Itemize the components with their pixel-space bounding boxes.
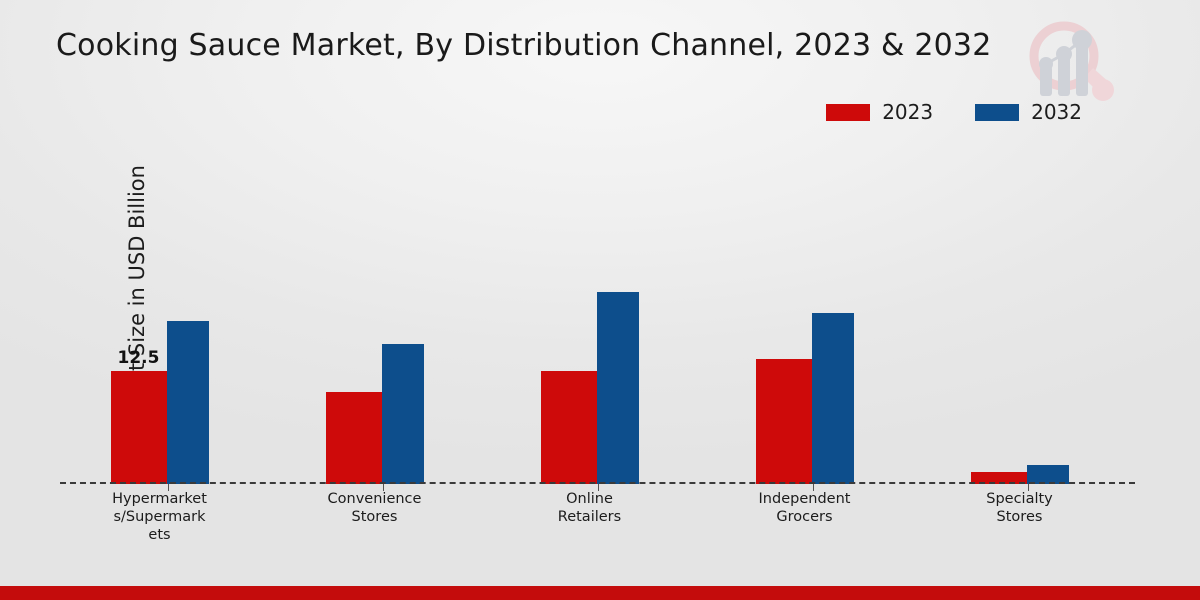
category-label-line: Stores [934,508,1105,526]
category-label-line: Hypermarket [74,490,245,508]
category-label-line: Stores [289,508,460,526]
category-label-line: Convenience [289,490,460,508]
x-axis-baseline [60,482,1135,484]
category-label: OnlineRetailers [482,490,697,544]
legend-swatch-2032 [975,104,1019,121]
category-label-line: Specialty [934,490,1105,508]
category-label: ConvenienceStores [267,490,482,544]
legend-label-2032: 2032 [1031,100,1082,124]
bar-pair: 12.5 [111,321,209,484]
bar-group: 12.5 [60,150,275,484]
bar-value-label: 12.5 [118,348,160,368]
bar-pair [541,292,639,484]
category-label: IndependentGrocers [697,490,912,544]
category-label-line: Independent [719,490,890,508]
bar-2023[interactable] [541,371,597,484]
footer-accent-bar [0,586,1200,600]
bar-2023[interactable] [326,392,382,484]
x-axis-category-labels: Hypermarkets/SupermarketsConvenienceStor… [60,490,1135,544]
bar-2032[interactable] [382,344,424,484]
bar-2032[interactable] [597,292,639,484]
bar-group [490,150,705,484]
bar-2032[interactable] [167,321,209,484]
category-label: Hypermarkets/Supermarkets [52,490,267,544]
bar-group [275,150,490,484]
category-label-line: Online [504,490,675,508]
legend-label-2023: 2023 [882,100,933,124]
category-label-line: s/Supermark [74,508,245,526]
bar-2032[interactable] [812,313,854,485]
bar-2023[interactable] [756,359,812,484]
bar-groups: 12.5 [60,150,1135,484]
category-label-line: ets [74,526,245,544]
bar-pair [326,344,424,484]
bar-pair [756,313,854,485]
bar-group [920,150,1135,484]
category-label-line: Retailers [504,508,675,526]
chart-container: Cooking Sauce Market, By Distribution Ch… [0,0,1200,600]
legend-swatch-2023 [826,104,870,121]
category-label-line: Grocers [719,508,890,526]
watermark-logo-icon [1010,8,1122,112]
chart-title: Cooking Sauce Market, By Distribution Ch… [56,28,992,63]
legend-item-2023[interactable]: 2023 [826,100,933,124]
legend-item-2032[interactable]: 2032 [975,100,1082,124]
category-label: SpecialtyStores [912,490,1127,544]
plot-area: 12.5 [60,150,1135,484]
chart-legend: 2023 2032 [826,100,1082,124]
bar-group [705,150,920,484]
bar-2023[interactable]: 12.5 [111,371,167,484]
